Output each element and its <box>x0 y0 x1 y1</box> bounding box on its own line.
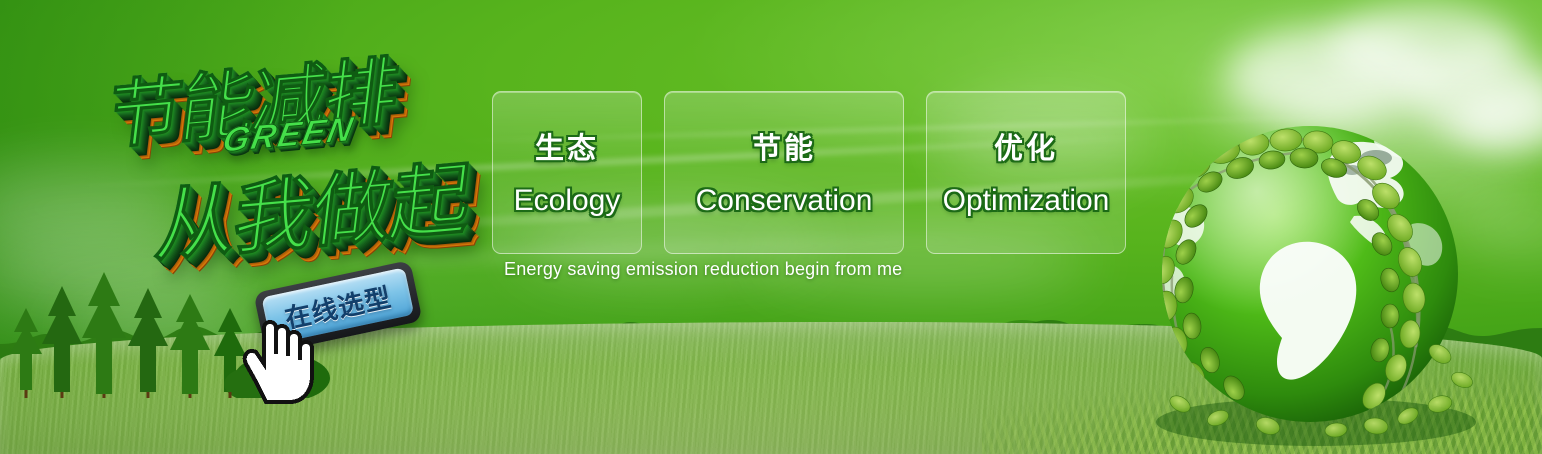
feature-card-conservation[interactable]: 节能 Conservation <box>664 91 904 254</box>
hero-tagline: Energy saving emission reduction begin f… <box>504 259 902 280</box>
logo-line-top: 节能减排 <box>102 31 403 164</box>
feature-card-en-label: Optimization <box>943 184 1110 218</box>
logo-line-green: GREEN <box>219 110 358 161</box>
feature-card-optimization[interactable]: 优化 Optimization <box>926 91 1126 254</box>
feature-card-en-label: Ecology <box>514 184 621 218</box>
hero-logo: 节能减排 GREEN 从我做起 <box>95 38 495 273</box>
feature-card-en-label: Conservation <box>696 184 873 218</box>
cloud-icon <box>0 168 190 248</box>
feature-card-cn-label: 优化 <box>994 125 1058 167</box>
feature-card-ecology[interactable]: 生态 Ecology <box>492 91 642 254</box>
cloud-icon <box>0 236 240 306</box>
cloud-icon <box>1330 4 1520 92</box>
eco-hero-banner: 节能减排 GREEN 从我做起 在线选型 生态 Ecology 节能 Conse… <box>0 0 1542 454</box>
feature-card-list: 生态 Ecology 节能 Conservation 优化 Optimizati… <box>492 91 1126 254</box>
feature-card-cn-label: 生态 <box>535 125 599 167</box>
feature-card-cn-label: 节能 <box>752 125 816 167</box>
logo-line-bottom: 从我做起 <box>150 134 476 279</box>
ivy-globe <box>1140 104 1512 450</box>
